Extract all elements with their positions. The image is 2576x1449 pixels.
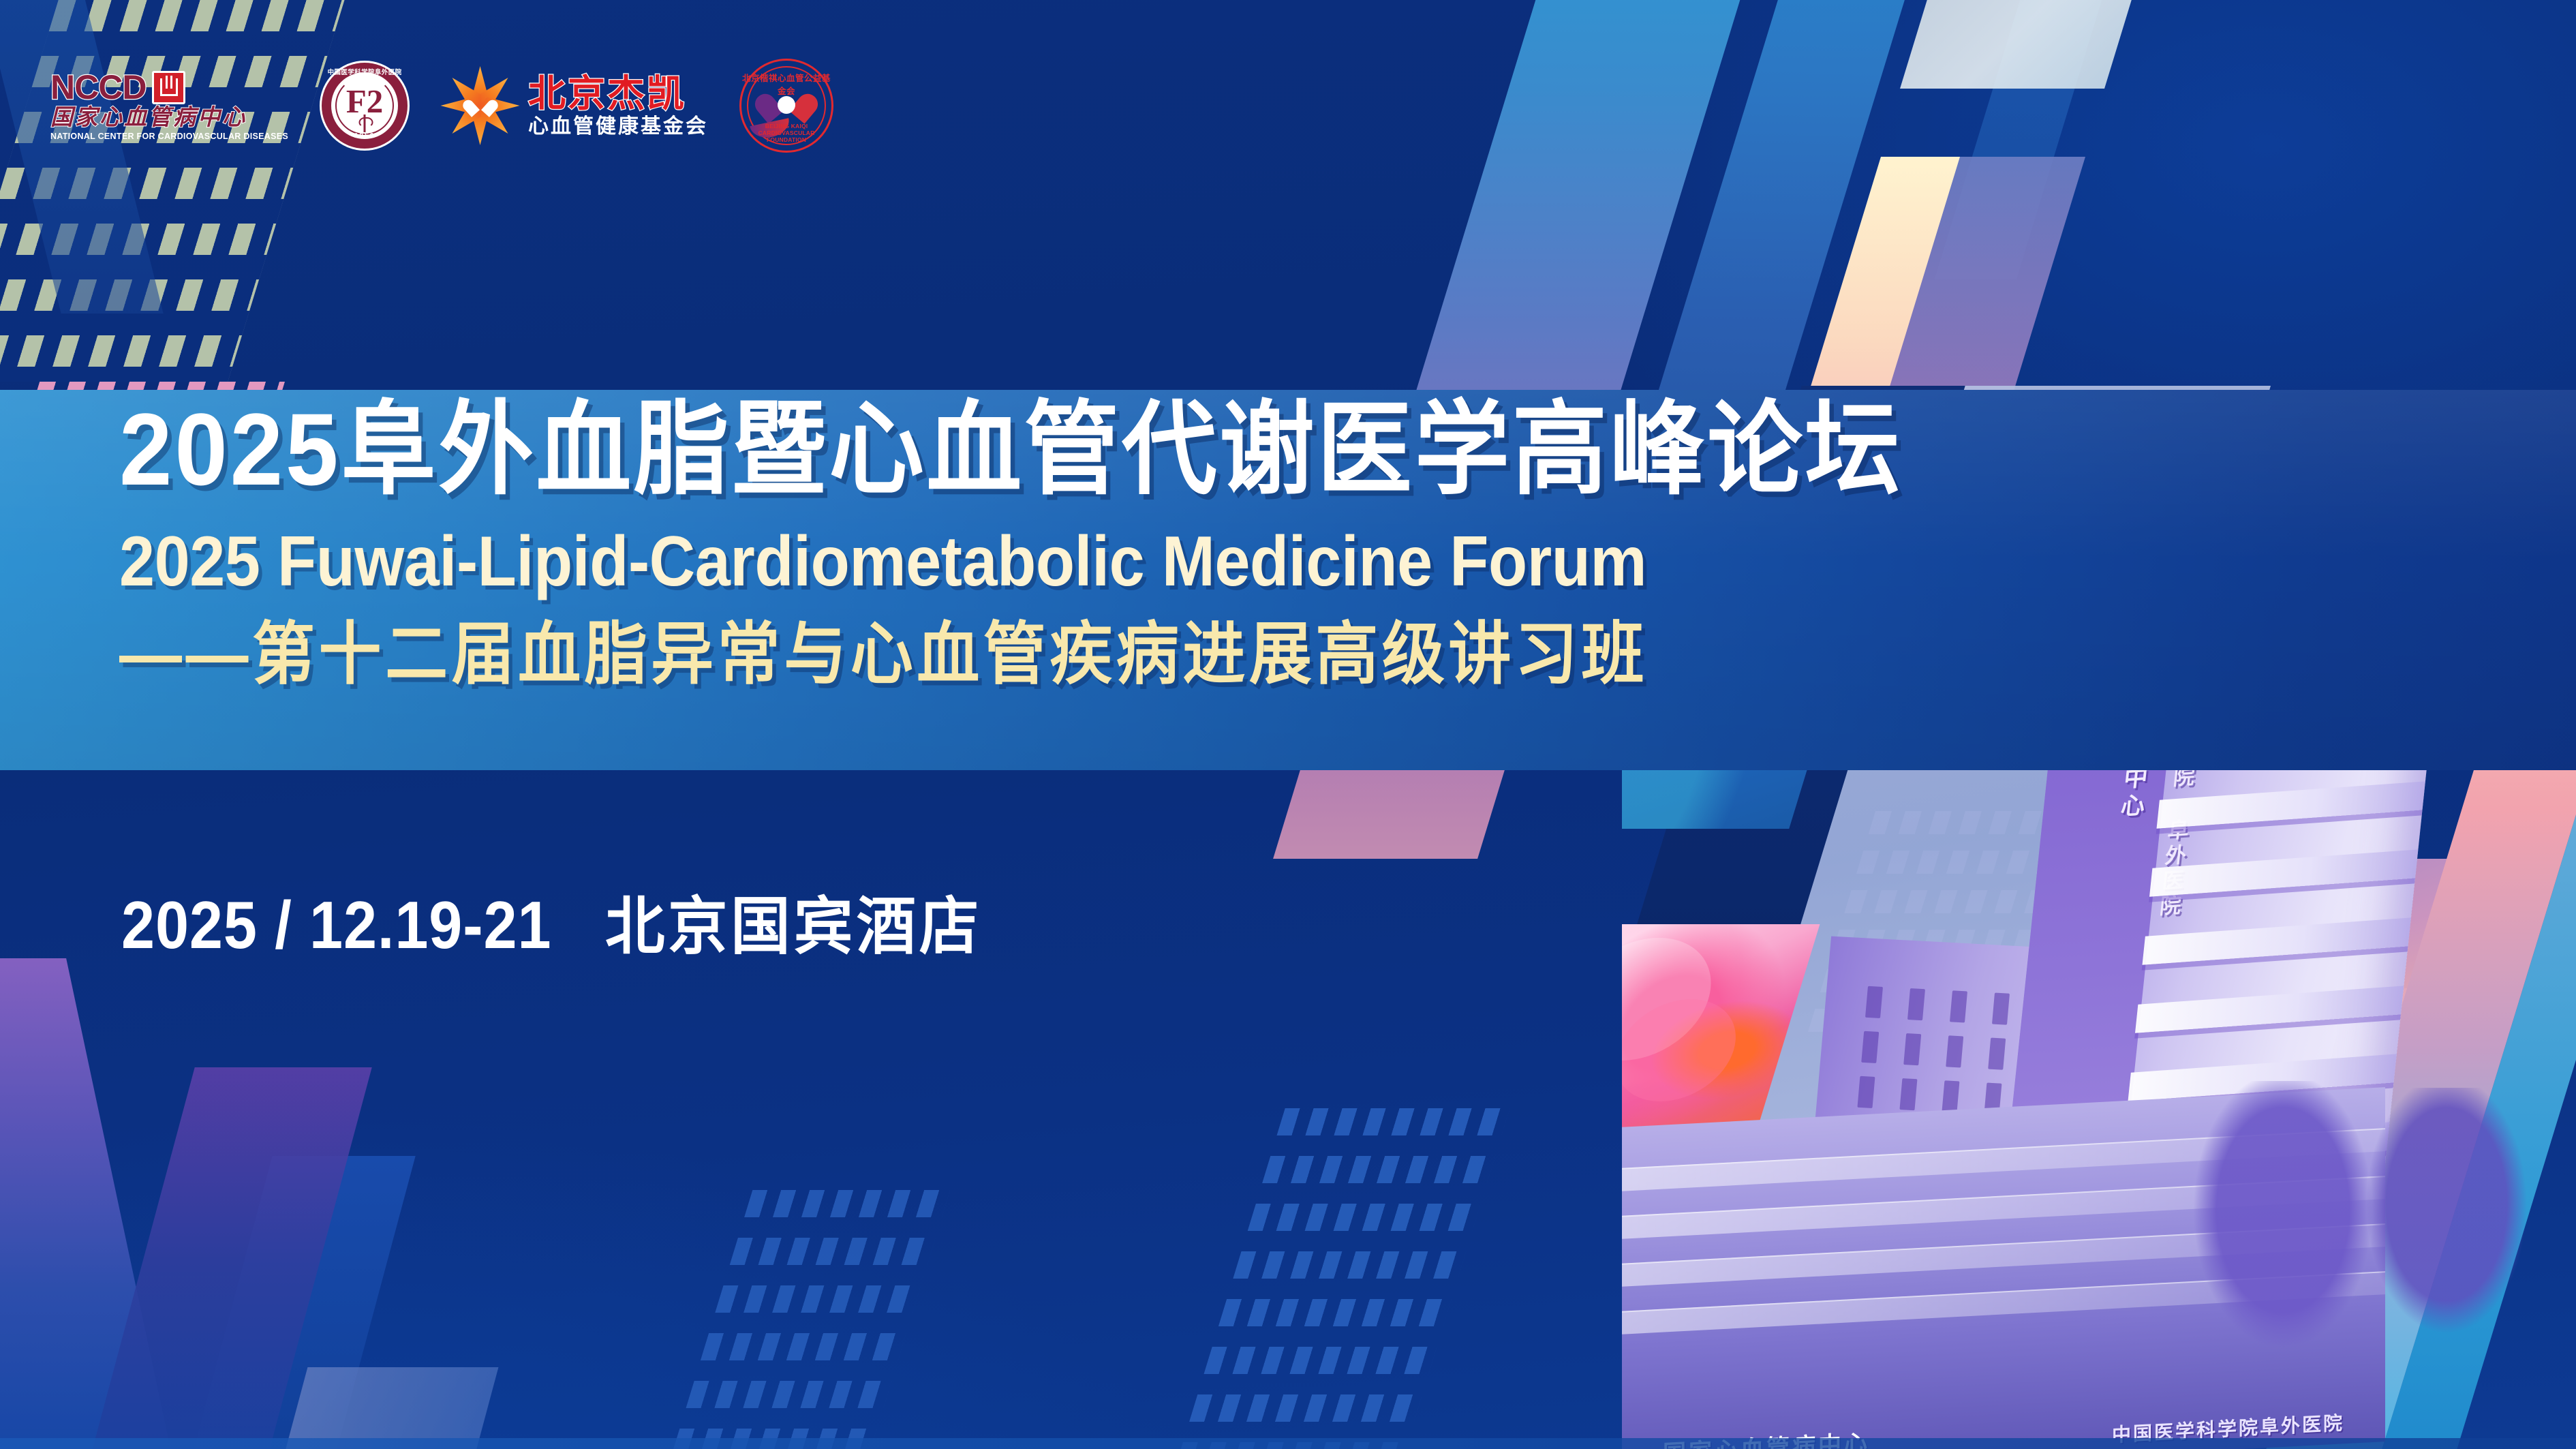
fuwai-founded-year: 1956 bbox=[322, 132, 408, 140]
logo-nccd: NCCD 国家心血管病中心 NATIONAL CENTER FOR CARDIO… bbox=[50, 70, 288, 141]
page-title: 2025阜外血脂暨心血管代谢医学高峰论坛 bbox=[119, 398, 1903, 500]
kaiqi-seal: 北京楷祺心血管公益基金会 BEIJING KAIQI CARDIOVASCULA… bbox=[739, 59, 833, 153]
building-window bbox=[1899, 1078, 1917, 1110]
building-window bbox=[1942, 1080, 1959, 1112]
building-window bbox=[1992, 993, 2010, 1025]
jiekai-chinese-name: 北京杰凯 bbox=[528, 75, 708, 112]
organizer-logo-row: NCCD 国家心血管病中心 NATIONAL CENTER FOR CARDIO… bbox=[50, 59, 833, 153]
building-window bbox=[1903, 1033, 1921, 1065]
decor-ribbon-pale bbox=[1900, 0, 2140, 89]
decor-pale-slab-left bbox=[279, 1367, 499, 1449]
building-window bbox=[1950, 990, 1967, 1022]
building-window bbox=[1865, 986, 1883, 1018]
nccd-english-name: NATIONAL CENTER FOR CARDIOVASCULAR DISEA… bbox=[50, 132, 288, 141]
jiekai-star-icon bbox=[441, 67, 519, 145]
building-window bbox=[1907, 988, 1925, 1020]
decor-tree-right bbox=[2358, 1088, 2535, 1347]
bottom-accent-strip bbox=[0, 1438, 2576, 1449]
nccd-acronym: NCCD bbox=[50, 70, 146, 104]
building-window bbox=[1988, 1038, 2006, 1070]
title-band: 2025阜外血脂暨心血管代谢医学高峰论坛 2025 Fuwai-Lipid-Ca… bbox=[0, 390, 2576, 770]
page-subtitle-chinese: ——第十二届血脂异常与心血管疾病进展高级讲习班 bbox=[119, 620, 1648, 688]
fuwai-monogram: F2 bbox=[322, 85, 408, 118]
logo-beijing-jiekai: 北京杰凯 心血管健康基金会 bbox=[441, 67, 708, 145]
jiekai-subtitle: 心血管健康基金会 bbox=[528, 117, 708, 137]
fuwai-seal: 中国医学科学院阜外医院 F2 1956 bbox=[320, 61, 410, 151]
event-date: 2025 / 12.19-21 bbox=[121, 891, 551, 958]
kaiqi-heart-icon bbox=[765, 87, 808, 123]
page-subtitle-english: 2025 Fuwai-Lipid-Cardiometabolic Medicin… bbox=[119, 526, 1646, 597]
event-venue: 北京国宾酒店 bbox=[605, 896, 982, 958]
nccd-chinese-name: 国家心血管病中心 bbox=[50, 107, 247, 129]
fuwai-caduceus-icon bbox=[364, 115, 366, 132]
conference-banner: 国家心血管病中心 中国医学科学院 阜外医院 国家心血管病中心 中国医学科学院阜外… bbox=[0, 0, 2576, 1449]
building-window bbox=[1857, 1076, 1875, 1108]
logo-fuwai-hospital: 中国医学科学院阜外医院 F2 1956 bbox=[320, 61, 410, 151]
kaiqi-ring-english: BEIJING KAIQI CARDIOVASCULAR FOUNDATION bbox=[741, 123, 831, 143]
nccd-book-icon bbox=[152, 71, 185, 104]
jiekai-heart-icon bbox=[470, 97, 491, 116]
building-window bbox=[1946, 1035, 1963, 1067]
building-window bbox=[1861, 1031, 1879, 1063]
logo-beijing-kaiqi: 北京楷祺心血管公益基金会 BEIJING KAIQI CARDIOVASCULA… bbox=[739, 59, 833, 153]
event-details: 2025 / 12.19-21 北京国宾酒店 bbox=[121, 891, 1002, 958]
decor-tree-left bbox=[2181, 1081, 2385, 1367]
